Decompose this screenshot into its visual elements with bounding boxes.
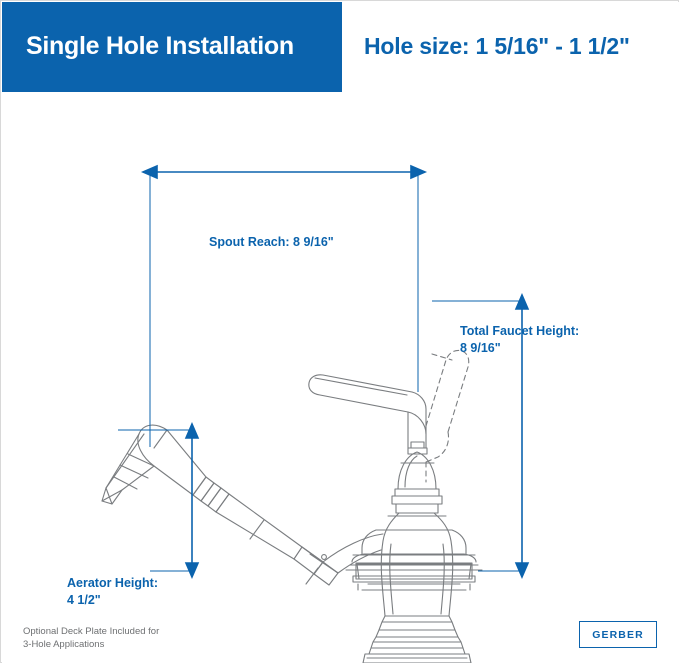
deck-plate-ring bbox=[382, 616, 452, 622]
header-right-panel: Hole size: 1 5/16" - 1 1/2" bbox=[342, 2, 679, 92]
spout-reach-label: Spout Reach: 8 9/16" bbox=[209, 234, 334, 251]
diagram-canvas: Spout Reach: 8 9/16" Total Faucet Height… bbox=[2, 92, 679, 663]
deck-plate-collar bbox=[379, 622, 455, 630]
handle-phantom-hub bbox=[426, 432, 449, 462]
spout-arm-upper bbox=[302, 534, 383, 562]
aerator-height-label: Aerator Height: 4 1/2" bbox=[67, 575, 158, 609]
header-left-panel: Single Hole Installation bbox=[2, 2, 342, 92]
handle-cap bbox=[408, 448, 427, 454]
body-base-taper bbox=[357, 564, 471, 579]
wand-head-top-edge bbox=[154, 430, 167, 448]
handle-dome-inner bbox=[405, 456, 417, 487]
handle-lever-detail bbox=[315, 378, 407, 395]
double-arrow-vertical-icon bbox=[186, 424, 198, 438]
body-top-ring bbox=[392, 496, 442, 504]
handle-phantom-group bbox=[426, 350, 469, 482]
wand-button-icon bbox=[322, 555, 327, 560]
footnote-text: Optional Deck Plate Included for 3-Hole … bbox=[23, 625, 159, 652]
spec-sheet: Single Hole Installation Hole size: 1 5/… bbox=[0, 0, 679, 663]
deck-plate-neck bbox=[376, 630, 458, 637]
handle-phantom-lever bbox=[426, 350, 469, 432]
brand-logo-box: GERBER bbox=[579, 621, 657, 648]
header: Single Hole Installation Hole size: 1 5/… bbox=[2, 2, 679, 92]
body-top-ring-2 bbox=[395, 489, 439, 496]
deck-plate-upper bbox=[373, 637, 461, 642]
handle-dome bbox=[398, 452, 436, 489]
handle-lever-hub-right bbox=[412, 392, 426, 434]
faucet-outline-group bbox=[102, 350, 482, 663]
body-top-collar bbox=[396, 504, 438, 513]
double-arrow-vertical-icon bbox=[186, 563, 198, 577]
page-title: Single Hole Installation bbox=[26, 33, 294, 61]
handle-cap-top bbox=[411, 442, 424, 448]
aerator-line-2 bbox=[120, 465, 148, 478]
hole-size-label: Hole size: 1 5/16" - 1 1/2" bbox=[364, 34, 630, 59]
double-arrow-vertical-icon bbox=[516, 295, 528, 309]
aerator-front-edge bbox=[106, 434, 139, 488]
aerator-line-1 bbox=[128, 454, 154, 466]
double-arrow-vertical-icon bbox=[516, 563, 528, 577]
brand-name: GERBER bbox=[592, 629, 644, 641]
total-faucet-height-label: Total Faucet Height: 8 9/16" bbox=[460, 323, 579, 357]
